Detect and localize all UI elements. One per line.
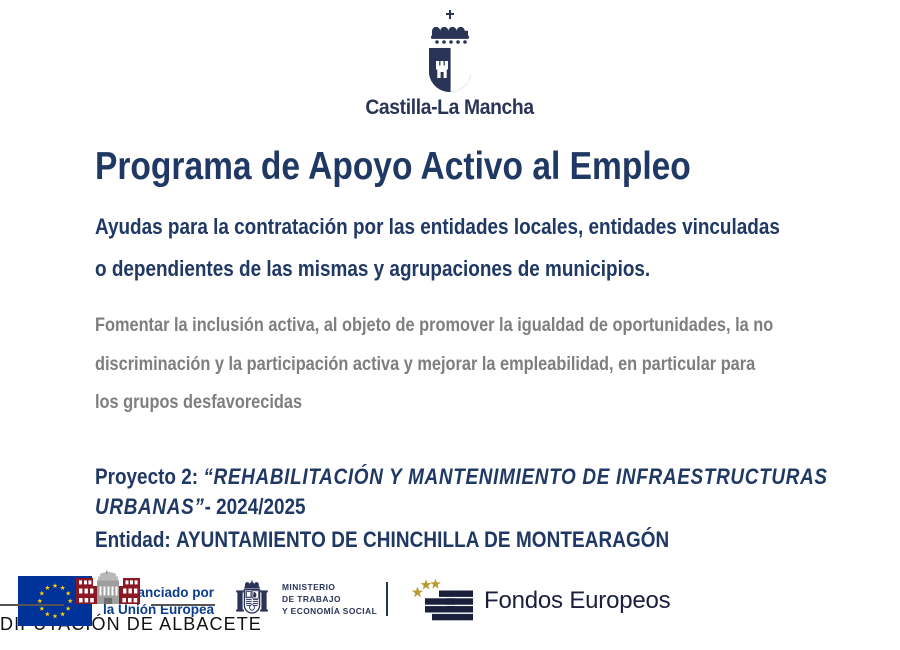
entity-label: Entidad: <box>95 527 171 552</box>
entity-line: Entidad: AYUNTAMIENTO DE CHINCHILLA DE M… <box>95 524 766 556</box>
project-line-1: Proyecto 2: “REHABILITACIÓN Y MANTENIMIE… <box>95 462 766 492</box>
castilla-la-mancha-wordmark: Castilla-La Mancha <box>366 96 534 120</box>
ministry-line-1: MINISTERIO <box>282 581 377 593</box>
header-emblem-block: Castilla-La Mancha <box>0 6 900 120</box>
project-label: Proyecto 2: <box>95 464 198 489</box>
castilla-la-mancha-coat-of-arms-icon <box>405 6 495 94</box>
diputacion-rule-left <box>0 604 64 606</box>
ministry-divider <box>386 582 388 616</box>
project-name-line-1: “REHABILITACIÓN Y MANTENIMIENTO DE INFRA… <box>203 464 827 489</box>
subtitle-line-1: Ayudas para la contratación por las enti… <box>95 206 749 248</box>
ministry-name-text: MINISTERIO DE TRABAJO Y ECONOMÍA SOCIAL <box>282 581 377 618</box>
project-years: - 2024/2025 <box>205 494 306 519</box>
entity-value: AYUNTAMIENTO DE CHINCHILLA DE MONTEARAGÓ… <box>176 527 669 552</box>
logo-ministerio-trabajo: MINISTERIO DE TRABAJO Y ECONOMÍA SOCIAL <box>232 578 388 620</box>
subtitle-line-2: o dependientes de las mismas y agrupacio… <box>95 248 749 290</box>
ministry-line-2: DE TRABAJO <box>282 593 377 605</box>
ministry-line-3: Y ECONOMÍA SOCIAL <box>282 605 377 617</box>
main-content-block: Programa de Apoyo Activo al Empleo Ayuda… <box>95 146 855 423</box>
poster-page: Castilla-La Mancha Programa de Apoyo Act… <box>0 0 900 650</box>
page-title: Programa de Apoyo Activo al Empleo <box>95 146 749 188</box>
diputacion-rule-right <box>151 604 215 606</box>
diputacion-albacete-building-icon <box>64 570 152 612</box>
objective-line-1: Fomentar la inclusión activa, al objeto … <box>95 307 749 346</box>
project-line-2: URBANAS”- 2024/2025 <box>95 492 766 522</box>
logo-fondos-europeos: Fondos Europeos <box>408 578 670 624</box>
project-name-line-2: URBANAS” <box>95 494 205 519</box>
spain-coat-of-arms-icon <box>232 578 274 620</box>
fondos-europeos-label: Fondos Europeos <box>484 587 670 615</box>
objective-line-2: discriminación y la participación activa… <box>95 346 749 385</box>
diputacion-emblem-row <box>0 570 215 612</box>
project-details-block: Proyecto 2: “REHABILITACIÓN Y MANTENIMIE… <box>95 462 875 556</box>
footer-logo-bar: Cofinanciado por la Unión Europea <box>0 570 900 642</box>
objective-line-3: los grupos desfavorecidas <box>95 384 749 423</box>
fondos-europeos-steps-icon <box>408 578 474 624</box>
